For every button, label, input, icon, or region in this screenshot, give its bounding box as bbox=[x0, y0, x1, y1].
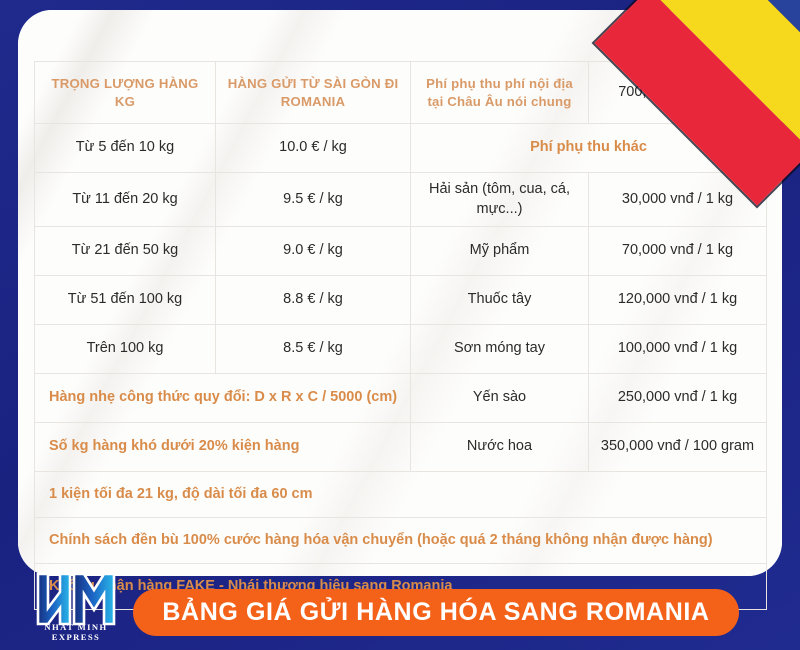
table-row: Từ 11 đến 20 kg 9.5 € / kg Hải sản (tôm,… bbox=[35, 173, 767, 227]
fee-item: Hải sản (tôm, cua, cá, mực...) bbox=[411, 173, 589, 227]
weight-rate: 9.0 € / kg bbox=[216, 227, 411, 276]
pricing-table-wrapper: TRỌNG LƯỢNG HÀNG KG HÀNG GỬI TỪ SÀI GÒN … bbox=[34, 61, 766, 610]
fee-item: Nước hoa bbox=[411, 423, 589, 472]
fee-item: Sơn móng tay bbox=[411, 325, 589, 374]
weight-rate: 8.5 € / kg bbox=[216, 325, 411, 374]
weight-range: Từ 51 đến 100 kg bbox=[35, 276, 216, 325]
table-row: Hàng nhẹ công thức quy đổi: D x R x C / … bbox=[35, 374, 767, 423]
weight-range: Từ 5 đến 10 kg bbox=[35, 124, 216, 173]
logo-company-name: NHAT MINH EXPRESS bbox=[24, 622, 128, 642]
table-row: Từ 51 đến 100 kg 8.8 € / kg Thuốc tây 12… bbox=[35, 276, 767, 325]
fee-price: 70,000 vnđ / 1 kg bbox=[589, 227, 767, 276]
table-row: 1 kiện tối đa 21 kg, độ dài tối đa 60 cm bbox=[35, 472, 767, 518]
fee-item: Thuốc tây bbox=[411, 276, 589, 325]
table-row: Từ 21 đến 50 kg 9.0 € / kg Mỹ phẩm 70,00… bbox=[35, 227, 767, 276]
fee-price: 250,000 vnđ / 1 kg bbox=[589, 374, 767, 423]
span-note: Số kg hàng khó dưới 20% kiện hàng bbox=[35, 423, 411, 472]
span-note: Hàng nhẹ công thức quy đổi: D x R x C / … bbox=[35, 374, 411, 423]
table-row: Trên 100 kg 8.5 € / kg Sơn móng tay 100,… bbox=[35, 325, 767, 374]
header-weight: TRỌNG LƯỢNG HÀNG KG bbox=[35, 62, 216, 124]
banner-title-text: BẢNG GIÁ GỬI HÀNG HÓA SANG ROMANIA bbox=[162, 598, 709, 627]
weight-range: Trên 100 kg bbox=[35, 325, 216, 374]
table-row: Từ 5 đến 10 kg 10.0 € / kg Phí phụ thu k… bbox=[35, 124, 767, 173]
fee-price: 100,000 vnđ / 1 kg bbox=[589, 325, 767, 374]
fee-price: 120,000 vnđ / 1 kg bbox=[589, 276, 767, 325]
table-row: Chính sách đền bù 100% cước hàng hóa vận… bbox=[35, 518, 767, 564]
weight-rate: 8.8 € / kg bbox=[216, 276, 411, 325]
title-banner: BẢNG GIÁ GỬI HÀNG HÓA SANG ROMANIA bbox=[133, 589, 739, 636]
weight-rate: 10.0 € / kg bbox=[216, 124, 411, 173]
fee-item: Mỹ phẩm bbox=[411, 227, 589, 276]
fee-item: Yến sào bbox=[411, 374, 589, 423]
weight-rate: 9.5 € / kg bbox=[216, 173, 411, 227]
full-note: Chính sách đền bù 100% cước hàng hóa vận… bbox=[35, 518, 767, 564]
table-row: Số kg hàng khó dưới 20% kiện hàng Nước h… bbox=[35, 423, 767, 472]
header-surcharge-label: Phí phụ thu phí nội địa tại Châu Âu nói … bbox=[411, 62, 589, 124]
header-rate: HÀNG GỬI TỪ SÀI GÒN ĐI ROMANIA bbox=[216, 62, 411, 124]
company-logo: NHAT MINH EXPRESS bbox=[24, 568, 128, 644]
full-note: 1 kiện tối đa 21 kg, độ dài tối đa 60 cm bbox=[35, 472, 767, 518]
weight-range: Từ 21 đến 50 kg bbox=[35, 227, 216, 276]
fee-price: 350,000 vnđ / 100 gram bbox=[589, 423, 767, 472]
pricing-table: TRỌNG LƯỢNG HÀNG KG HÀNG GỬI TỪ SÀI GÒN … bbox=[34, 61, 767, 610]
weight-range: Từ 11 đến 20 kg bbox=[35, 173, 216, 227]
